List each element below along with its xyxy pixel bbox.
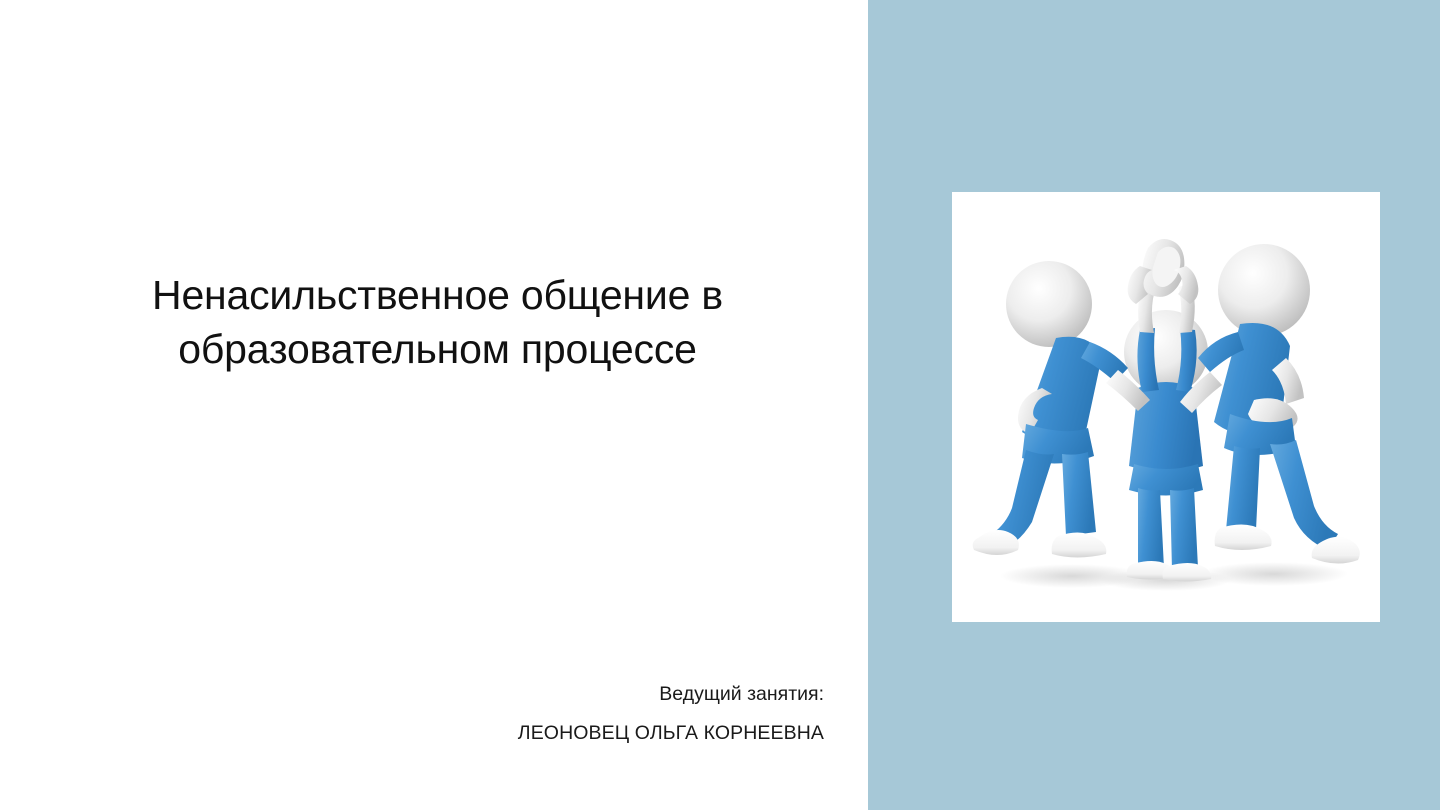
presentation-slide: Ненасильственное общение в образовательн… [0, 0, 1440, 810]
slide-title: Ненасильственное общение в образовательн… [100, 268, 775, 376]
illustration-frame [952, 192, 1380, 622]
slide-subtitle: Ведущий занятия: ЛЕОНОВЕЦ ОЛЬГА КОРНЕЕВН… [380, 681, 824, 746]
title-line-1: Ненасильственное общение в [100, 268, 775, 322]
presenter-label: Ведущий занятия: [380, 681, 824, 708]
three-figures-high-five-icon [952, 192, 1380, 622]
presenter-name: ЛЕОНОВЕЦ ОЛЬГА КОРНЕЕВНА [380, 720, 824, 746]
title-line-2: образовательном процессе [100, 322, 775, 376]
